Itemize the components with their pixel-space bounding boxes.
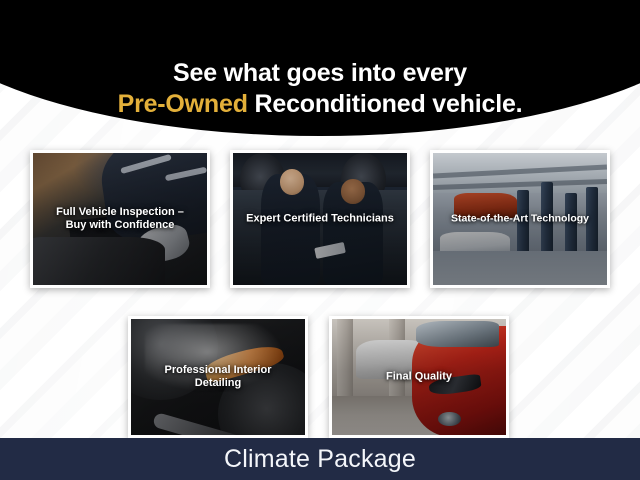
hero-headline-rest: Reconditioned vehicle. (248, 90, 523, 118)
hero-accent-text: Pre-Owned (118, 90, 248, 118)
bottom-banner: Climate Package (0, 438, 640, 480)
card-caption-line-1: Full Vehicle Inspection – (37, 206, 203, 219)
card-caption-line-1: Expert Certified Technicians (237, 213, 403, 226)
feature-card-state-of-the-art-technology[interactable]: State-of-the-Art Technology (430, 150, 610, 288)
hero-headline-line-1: See what goes into every (0, 58, 640, 89)
feature-card-expert-certified-technicians[interactable]: Expert Certified Technicians (230, 150, 410, 288)
banner-title: Climate Package (224, 446, 416, 473)
card-caption-professional-interior-detailing: Professional Interior Detailing (135, 364, 301, 390)
card-caption-line-2: Buy with Confidence (37, 219, 203, 232)
card-caption-line-1: Final Quality (336, 371, 502, 384)
card-caption-final-quality: Final Quality (336, 371, 502, 384)
hero-header: See what goes into every Pre-Owned Recon… (0, 0, 640, 136)
card-caption-line-2: Detailing (135, 377, 301, 390)
card-caption-line-1: Professional Interior (135, 364, 301, 377)
card-caption-state-of-the-art-technology: State-of-the-Art Technology (437, 213, 603, 226)
card-caption-full-vehicle-inspection: Full Vehicle Inspection – Buy with Confi… (37, 206, 203, 232)
card-caption-expert-certified-technicians: Expert Certified Technicians (237, 213, 403, 226)
feature-card-professional-interior-detailing[interactable]: Professional Interior Detailing (128, 316, 308, 438)
feature-card-final-quality[interactable]: Final Quality (329, 316, 509, 438)
feature-card-full-vehicle-inspection[interactable]: Full Vehicle Inspection – Buy with Confi… (30, 150, 210, 288)
promo-slide: See what goes into every Pre-Owned Recon… (0, 0, 640, 480)
card-caption-line-1: State-of-the-Art Technology (437, 213, 603, 226)
hero-headline-line-2: Pre-Owned Reconditioned vehicle. (0, 89, 640, 120)
hero-text-block: See what goes into every Pre-Owned Recon… (0, 58, 640, 120)
